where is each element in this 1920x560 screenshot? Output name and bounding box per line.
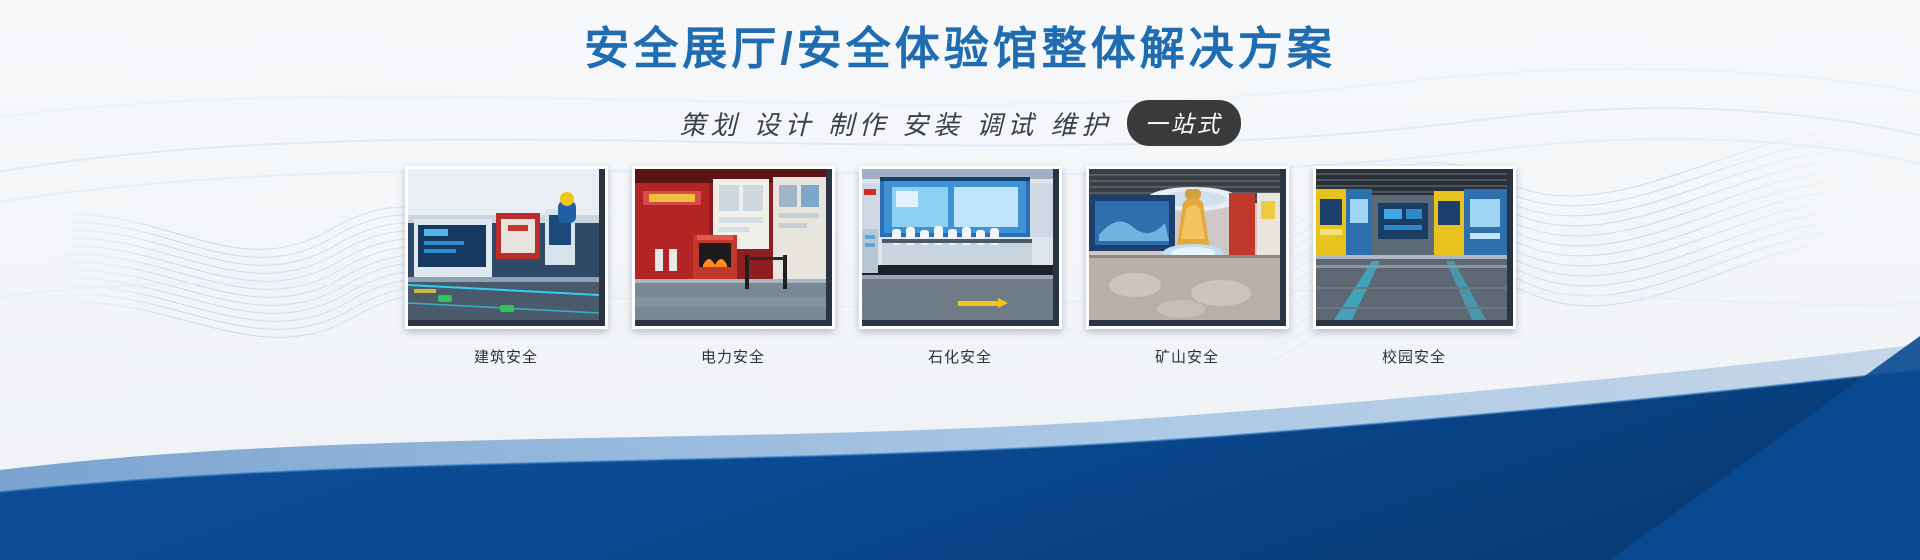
promo-banner: 安全展厅/安全体验馆整体解决方案 策划 设计 制作 安装 调试 维护 一站式 [0,0,1920,560]
subtitle-row: 策划 设计 制作 安装 调试 维护 一站式 [0,100,1920,146]
list-item[interactable]: 校园安全 [1316,166,1513,367]
card-caption: 校园安全 [1382,346,1446,367]
thumbnail-image-construction[interactable] [405,166,608,329]
list-item[interactable]: 建筑安全 [408,166,605,367]
thumbnail-image-power[interactable] [632,166,835,329]
card-caption: 石化安全 [928,346,992,367]
thumbnail-image-petrochemical[interactable] [859,166,1062,329]
card-caption: 建筑安全 [474,346,538,367]
thumbnail-image-mining[interactable] [1086,166,1289,329]
list-item[interactable]: 矿山安全 [1089,166,1286,367]
list-item[interactable]: 石化安全 [862,166,1059,367]
thumbnail-image-campus[interactable] [1313,166,1516,329]
card-caption: 矿山安全 [1155,346,1219,367]
card-caption: 电力安全 [701,346,765,367]
page-title: 安全展厅/安全体验馆整体解决方案 [0,22,1920,76]
card-list: 建筑安全 [0,166,1920,367]
status-badge: 一站式 [1127,100,1241,146]
list-item[interactable]: 电力安全 [635,166,832,367]
subtitle-text: 策划 设计 制作 安装 调试 维护 [679,105,1112,142]
